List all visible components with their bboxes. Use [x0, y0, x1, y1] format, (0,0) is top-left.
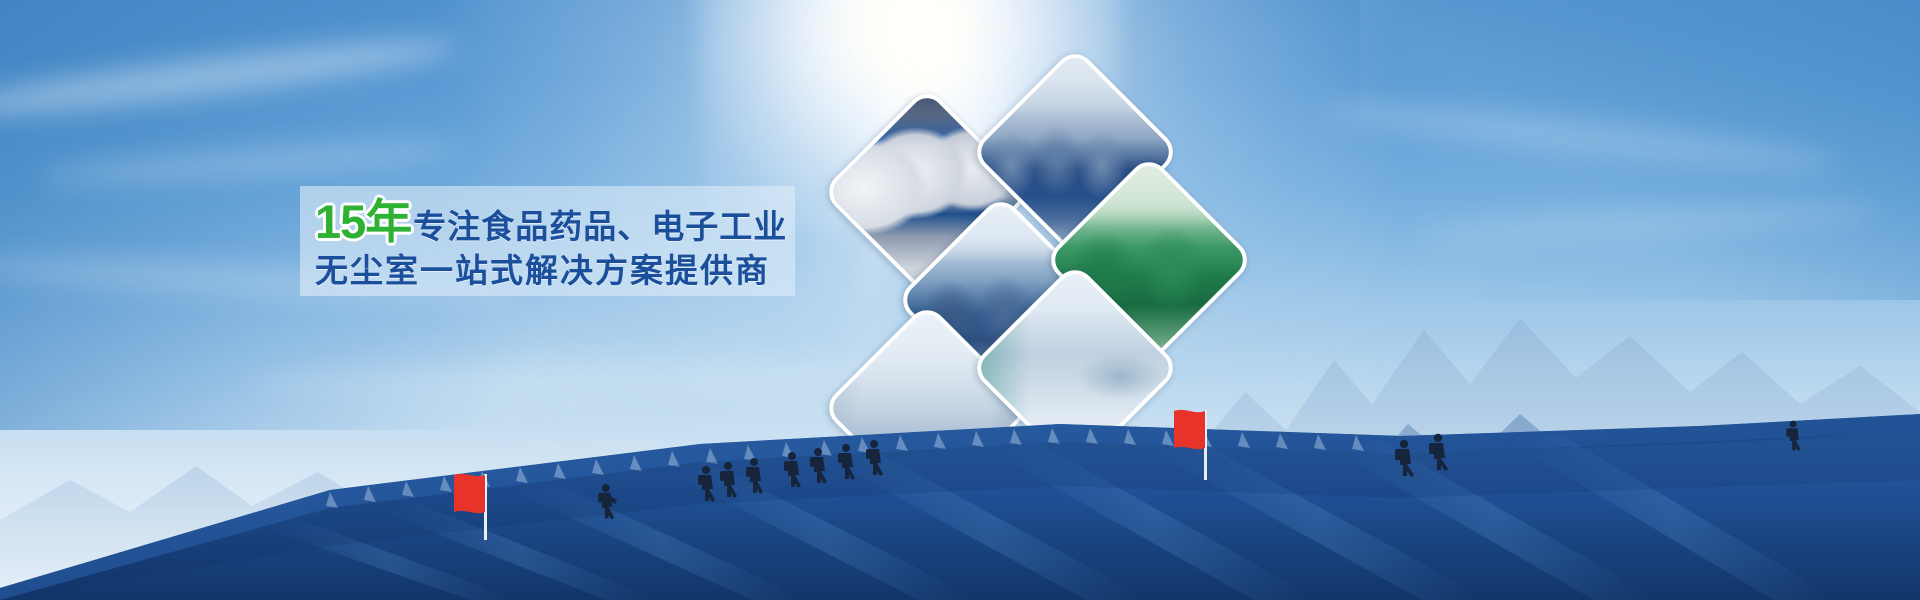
- climber: [1786, 421, 1800, 452]
- flag-cloth: [454, 474, 485, 513]
- flag-cloth: [1174, 410, 1205, 449]
- climber: [698, 466, 715, 502]
- headline-line-1-rest: 专注食品药品、电子工业: [413, 210, 787, 243]
- headline-line-2: 无尘室一站式解决方案提供商: [315, 254, 785, 287]
- climber: [838, 444, 855, 480]
- climber: [1395, 440, 1414, 477]
- climber: [746, 458, 763, 494]
- climber: [866, 440, 883, 476]
- climber: [1429, 434, 1448, 471]
- climber: [598, 484, 617, 519]
- flag-right: [1174, 410, 1207, 480]
- hero-banner: 15年 专注食品药品、电子工业 无尘室一站式解决方案提供商: [0, 0, 1920, 600]
- headline: 15年 专注食品药品、电子工业 无尘室一站式解决方案提供商: [315, 198, 785, 287]
- flag-left: [454, 474, 487, 540]
- climber: [784, 452, 801, 488]
- climber: [720, 462, 737, 498]
- climber: [810, 448, 827, 484]
- years-highlight: 15年: [315, 198, 411, 245]
- climbers-and-flags: [0, 320, 1920, 600]
- headline-line-1: 15年 专注食品药品、电子工业: [315, 198, 785, 245]
